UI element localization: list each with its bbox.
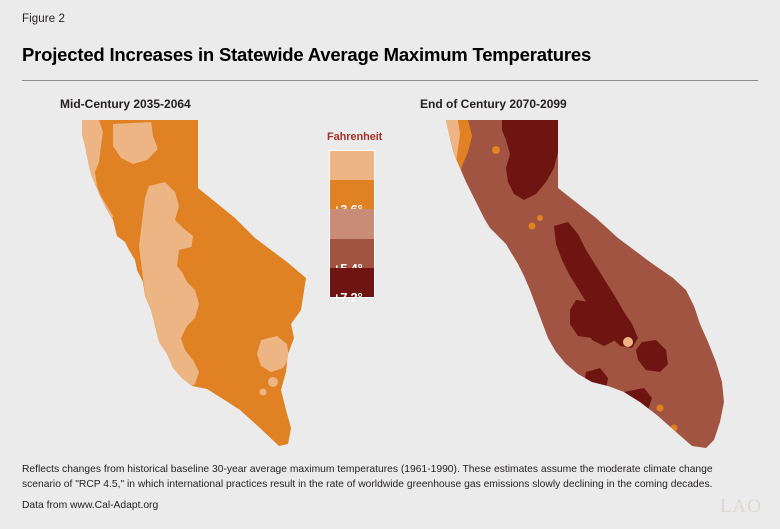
region-orange-dot-south-2: [671, 425, 678, 432]
legend-band-3: [330, 209, 374, 238]
region-peach-dot-se-1: [268, 377, 278, 387]
lao-logo: LAO: [720, 496, 762, 518]
panel-caption-mid-century: Mid-Century 2035-2064: [60, 97, 191, 111]
region-brick-dot-coast-2: [500, 248, 512, 260]
panel-caption-end-of-century: End of Century 2070-2099: [420, 97, 567, 111]
region-peach-dot-se-2: [260, 389, 267, 396]
map-mid-century: [55, 110, 315, 450]
legend-band-4: +5.4°: [330, 239, 374, 268]
region-peach-central-coast: [455, 228, 484, 346]
region-orange-dot-north: [492, 146, 500, 154]
region-orange-dot-valley-2: [529, 223, 536, 230]
california-map-end-of-century-svg: [428, 110, 733, 455]
legend-title: Fahrenheit: [327, 131, 381, 143]
legend-band-5-label: +7.2°: [333, 290, 362, 305]
figure-page: Figure 2 Projected Increases in Statewid…: [0, 0, 780, 529]
san-francisco-bay: [474, 260, 488, 276]
map-regions-end-of-century: [428, 110, 733, 455]
region-peach-south-coast: [528, 380, 562, 410]
region-orange-dot-valley-1: [537, 215, 543, 221]
map-end-of-century: [428, 110, 733, 455]
san-francisco-bay: [113, 262, 125, 276]
region-peach-dot-desert: [623, 337, 633, 347]
region-orange-dot-south-1: [657, 405, 664, 412]
legend-band-2: +3.6°: [330, 180, 374, 209]
source-note: Data from www.Cal-Adapt.org: [22, 500, 158, 511]
legend: Fahrenheit +3.6° +5.4° +7.2°: [321, 131, 381, 143]
footnote: Reflects changes from historical baselin…: [22, 462, 746, 492]
title-divider: [22, 80, 758, 81]
region-peach-oval-nw: [91, 266, 103, 290]
figure-label: Figure 2: [22, 13, 65, 25]
legend-color-ramp: +3.6° +5.4° +7.2°: [329, 150, 375, 298]
legend-band-5: +7.2°: [330, 268, 374, 297]
region-brick-dot-coast-1: [484, 234, 496, 246]
legend-band-1: [330, 151, 374, 180]
map-regions-mid-century: [55, 110, 315, 450]
california-map-mid-century-svg: [55, 110, 315, 450]
page-title: Projected Increases in Statewide Average…: [22, 44, 591, 66]
